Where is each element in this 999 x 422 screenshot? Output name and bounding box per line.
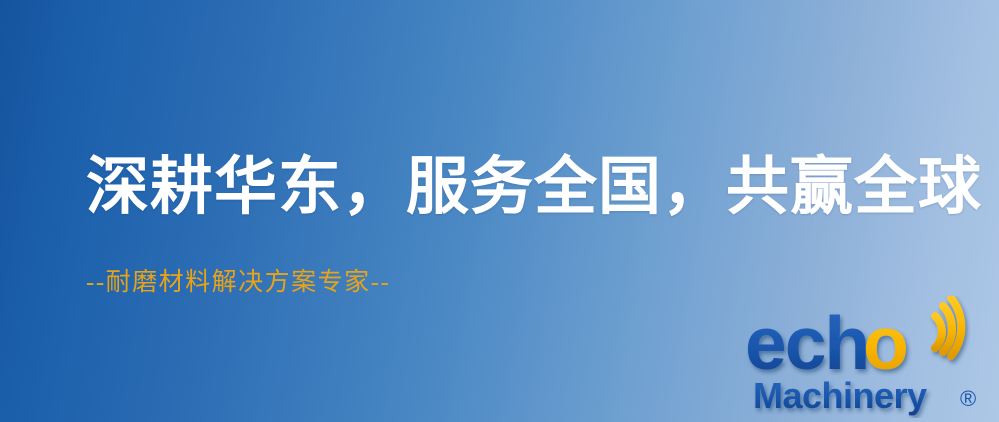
banner-text-block: 深耕华东，服务全国，共赢全球 --耐磨材料解决方案专家-- — [86, 150, 946, 300]
logo-wordmark-ech: ech — [745, 301, 868, 385]
promo-banner: 深耕华东，服务全国，共赢全球 --耐磨材料解决方案专家-- — [0, 0, 999, 422]
echo-wave-arcs — [935, 298, 961, 356]
logo-registered-mark: ® — [960, 386, 976, 411]
logo-wordmark-machinery: Machinery — [753, 375, 927, 416]
echo-machinery-logo[interactable]: ech o Machinery ® — [745, 296, 995, 418]
logo-wordmark-o: o — [863, 301, 909, 385]
banner-subtitle: --耐磨材料解决方案专家-- — [86, 224, 946, 300]
banner-headline: 深耕华东，服务全国，共赢全球 — [86, 150, 946, 224]
